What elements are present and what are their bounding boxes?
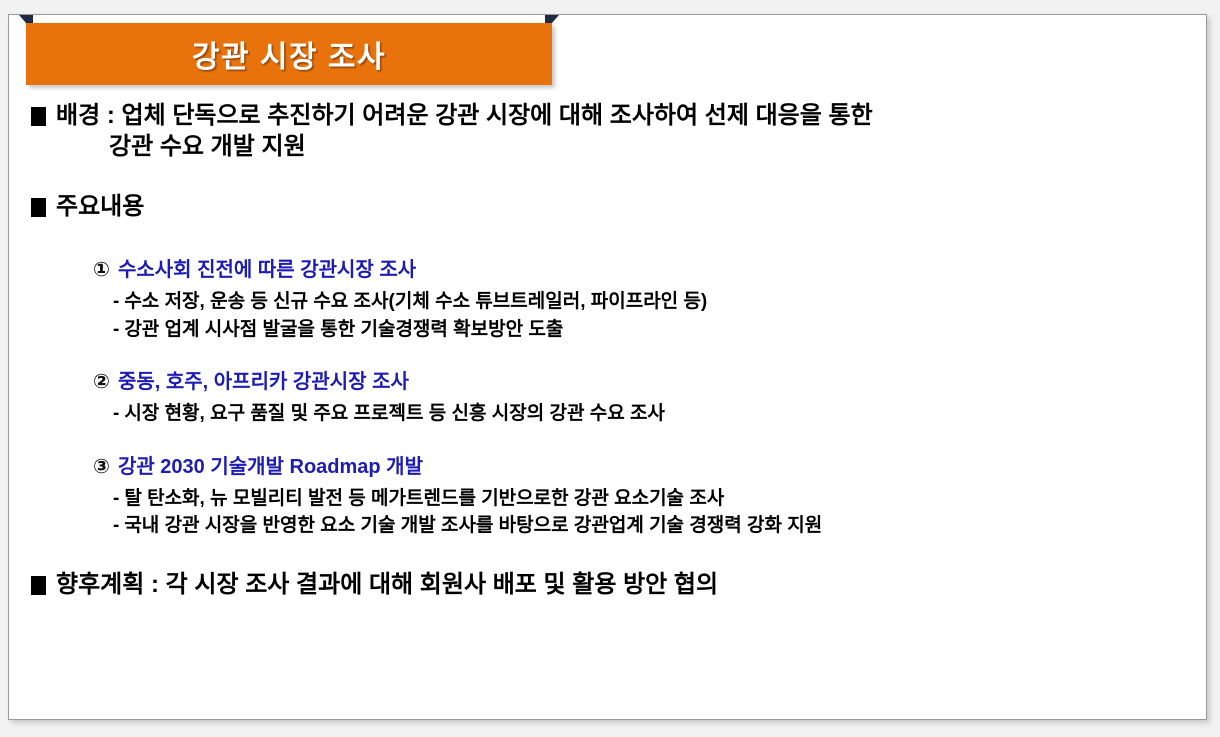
future-plan-section: 향후계획 : 각 시장 조사 결과에 대해 회원사 배포 및 활용 방안 협의 xyxy=(9,570,1206,601)
background-section-text: 배경 : 업체 단독으로 추진하기 어려운 강관 시장에 대해 조사하여 선제 … xyxy=(56,101,1206,162)
dash-icon: - xyxy=(113,403,119,424)
item-2-number: ② xyxy=(93,369,110,395)
slide-body: 배경 : 업체 단독으로 추진하기 어려운 강관 시장에 대해 조사하여 선제 … xyxy=(9,101,1206,601)
title-banner-container: 강관 시장 조사 xyxy=(19,15,559,87)
spacer xyxy=(9,540,1206,570)
square-bullet-icon xyxy=(31,576,46,595)
spacer xyxy=(9,162,1206,192)
item-1-heading: ① 수소사회 진전에 따른 강관시장 조사 xyxy=(93,257,1206,283)
main-section-item-2: ② 중동, 호주, 아프리카 강관시장 조사 -시장 현황, 요구 품질 및 주… xyxy=(9,369,1206,428)
item-3-bullet-1-text: 탈 탄소화, 뉴 모빌리티 발전 등 메가트렌드를 기반으로한 강관 요소기술 … xyxy=(124,488,724,509)
item-3-number: ③ xyxy=(93,454,110,480)
item-1-number: ① xyxy=(93,257,110,283)
main-section-item-1: ① 수소사회 진전에 따른 강관시장 조사 -수소 저장, 운송 등 신규 수요… xyxy=(9,257,1206,343)
item-3-heading: ③ 강관 2030 기술개발 Roadmap 개발 xyxy=(93,454,1206,480)
main-section-heading: 주요내용 xyxy=(9,192,1206,223)
item-2-title: 중동, 호주, 아프리카 강관시장 조사 xyxy=(118,369,409,395)
item-3-bullet-1: -탈 탄소화, 뉴 모빌리티 발전 등 메가트렌드를 기반으로한 강관 요소기술… xyxy=(93,485,1206,513)
slide-title: 강관 시장 조사 xyxy=(192,32,386,76)
item-2-bullet-1-text: 시장 현황, 요구 품질 및 주요 프로젝트 등 신흥 시장의 강관 수요 조사 xyxy=(124,403,665,424)
main-section-heading-label: 주요내용 xyxy=(56,192,1206,223)
spacer xyxy=(9,428,1206,454)
slide-card: 강관 시장 조사 배경 : 업체 단독으로 추진하기 어려운 강관 시장에 대해… xyxy=(8,14,1207,720)
background-section-line1: 배경 : 업체 단독으로 추진하기 어려운 강관 시장에 대해 조사하여 선제 … xyxy=(56,102,873,129)
background-section: 배경 : 업체 단독으로 추진하기 어려운 강관 시장에 대해 조사하여 선제 … xyxy=(9,101,1206,162)
item-3-bullet-2-text: 국내 강관 시장을 반영한 요소 기술 개발 조사를 바탕으로 강관업계 기술 … xyxy=(124,515,822,536)
spacer xyxy=(9,223,1206,257)
item-1-bullet-2-text: 강관 업계 시사점 발굴을 통한 기술경쟁력 확보방안 도출 xyxy=(124,319,563,340)
item-2-heading: ② 중동, 호주, 아프리카 강관시장 조사 xyxy=(93,369,1206,395)
item-2-bullet-1: -시장 현황, 요구 품질 및 주요 프로젝트 등 신흥 시장의 강관 수요 조… xyxy=(93,400,1206,428)
item-1-title: 수소사회 진전에 따른 강관시장 조사 xyxy=(118,257,416,283)
spacer xyxy=(9,343,1206,369)
main-section-item-3: ③ 강관 2030 기술개발 Roadmap 개발 -탈 탄소화, 뉴 모빌리티… xyxy=(9,454,1206,540)
square-bullet-icon xyxy=(31,198,46,217)
title-banner: 강관 시장 조사 xyxy=(26,23,552,85)
dash-icon: - xyxy=(113,488,119,509)
dash-icon: - xyxy=(113,515,119,536)
dash-icon: - xyxy=(113,319,119,340)
item-3-title: 강관 2030 기술개발 Roadmap 개발 xyxy=(118,454,423,480)
dash-icon: - xyxy=(113,291,119,312)
item-1-bullet-1: -수소 저장, 운송 등 신규 수요 조사(기체 수소 튜브트레일러, 파이프라… xyxy=(93,288,1206,316)
future-plan-text: 향후계획 : 각 시장 조사 결과에 대해 회원사 배포 및 활용 방안 협의 xyxy=(56,570,1206,601)
item-1-bullet-2: -강관 업계 시사점 발굴을 통한 기술경쟁력 확보방안 도출 xyxy=(93,316,1206,344)
background-section-line2: 강관 수요 개발 지원 xyxy=(56,132,1206,163)
item-3-bullet-2: -국내 강관 시장을 반영한 요소 기술 개발 조사를 바탕으로 강관업계 기술… xyxy=(93,512,1206,540)
item-1-bullet-1-text: 수소 저장, 운송 등 신규 수요 조사(기체 수소 튜브트레일러, 파이프라인… xyxy=(124,291,707,312)
square-bullet-icon xyxy=(31,107,46,126)
